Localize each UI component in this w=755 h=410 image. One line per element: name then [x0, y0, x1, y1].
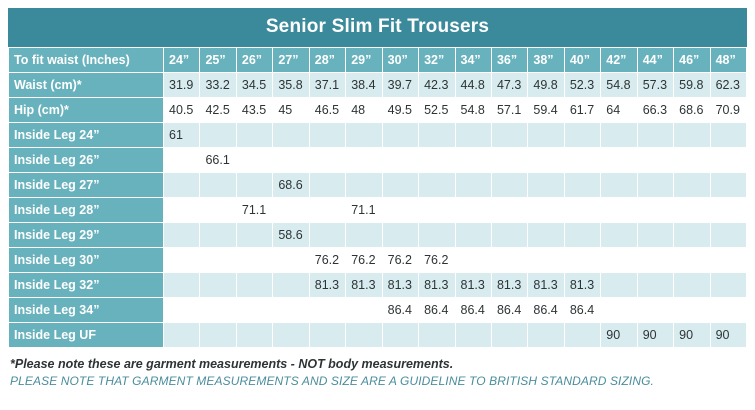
- table-cell: 86.4: [564, 298, 600, 323]
- table-cell: [637, 173, 673, 198]
- column-header-9: 34”: [455, 48, 491, 73]
- table-cell: [564, 148, 600, 173]
- table-cell: [455, 323, 491, 348]
- table-cell: [236, 148, 272, 173]
- table-cell: [382, 173, 418, 198]
- table-cell: [309, 223, 345, 248]
- table-cell: 57.3: [637, 73, 673, 98]
- table-cell: 58.6: [273, 223, 309, 248]
- table-cell: [200, 198, 236, 223]
- table-cell: [200, 273, 236, 298]
- table-cell: [273, 248, 309, 273]
- table-cell: [528, 223, 564, 248]
- corner-header: To fit waist (Inches): [9, 48, 164, 73]
- table-cell: [637, 223, 673, 248]
- table-cell: 42.3: [419, 73, 455, 98]
- table-cell: [528, 148, 564, 173]
- table-cell: 90: [601, 323, 637, 348]
- table-cell: 66.3: [637, 98, 673, 123]
- table-cell: [601, 123, 637, 148]
- table-cell: [382, 323, 418, 348]
- note-secondary: PLEASE NOTE THAT GARMENT MEASUREMENTS AN…: [10, 374, 747, 388]
- table-cell: [200, 298, 236, 323]
- column-header-15: 46”: [674, 48, 710, 73]
- table-cell: 40.5: [164, 98, 200, 123]
- table-cell: [273, 148, 309, 173]
- table-cell: [236, 173, 272, 198]
- table-cell: 71.1: [236, 198, 272, 223]
- table-cell: [164, 323, 200, 348]
- table-cell: 90: [674, 323, 710, 348]
- table-row: Waist (cm)*31.933.234.535.837.138.439.74…: [9, 73, 747, 98]
- column-header-8: 32”: [419, 48, 455, 73]
- table-cell: [309, 298, 345, 323]
- table-cell: 54.8: [455, 98, 491, 123]
- row-header: Inside Leg 26”: [9, 148, 164, 173]
- table-cell: [273, 323, 309, 348]
- table-cell: [528, 323, 564, 348]
- table-cell: [382, 123, 418, 148]
- table-cell: [164, 223, 200, 248]
- table-cell: 34.5: [236, 73, 272, 98]
- table-cell: 81.3: [491, 273, 527, 298]
- column-header-2: 25”: [200, 48, 236, 73]
- table-cell: [491, 198, 527, 223]
- table-cell: [419, 323, 455, 348]
- table-cell: 76.2: [346, 248, 382, 273]
- table-cell: [455, 223, 491, 248]
- table-cell: 70.9: [710, 98, 746, 123]
- table-cell: 86.4: [491, 298, 527, 323]
- table-cell: [164, 173, 200, 198]
- table-cell: 76.2: [309, 248, 345, 273]
- column-header-12: 40”: [564, 48, 600, 73]
- table-cell: [674, 123, 710, 148]
- table-cell: [710, 298, 746, 323]
- table-cell: [236, 298, 272, 323]
- table-cell: [564, 323, 600, 348]
- table-cell: [309, 198, 345, 223]
- table-cell: [236, 248, 272, 273]
- table-cell: [273, 298, 309, 323]
- table-cell: [674, 298, 710, 323]
- row-header: Inside Leg UF: [9, 323, 164, 348]
- table-cell: 68.6: [273, 173, 309, 198]
- table-cell: [164, 273, 200, 298]
- row-header: Inside Leg 32”: [9, 273, 164, 298]
- table-cell: 81.3: [382, 273, 418, 298]
- table-cell: 86.4: [455, 298, 491, 323]
- table-cell: 44.8: [455, 73, 491, 98]
- table-cell: 86.4: [528, 298, 564, 323]
- table-cell: 66.1: [200, 148, 236, 173]
- table-cell: [674, 248, 710, 273]
- table-cell: [419, 198, 455, 223]
- table-cell: [491, 248, 527, 273]
- table-row: Inside Leg 30”76.276.276.276.2: [9, 248, 747, 273]
- table-cell: 47.3: [491, 73, 527, 98]
- table-cell: [710, 223, 746, 248]
- table-cell: 81.3: [455, 273, 491, 298]
- table-cell: [309, 323, 345, 348]
- table-cell: [564, 248, 600, 273]
- table-cell: 68.6: [674, 98, 710, 123]
- table-cell: 45: [273, 98, 309, 123]
- table-cell: [273, 123, 309, 148]
- table-cell: [528, 198, 564, 223]
- table-cell: 48: [346, 98, 382, 123]
- table-cell: [564, 198, 600, 223]
- table-cell: [601, 248, 637, 273]
- table-cell: 37.1: [309, 73, 345, 98]
- table-cell: 90: [637, 323, 673, 348]
- table-cell: [637, 248, 673, 273]
- row-header: Inside Leg 34”: [9, 298, 164, 323]
- page-title: Senior Slim Fit Trousers: [8, 8, 747, 47]
- table-cell: 35.8: [273, 73, 309, 98]
- table-cell: [273, 273, 309, 298]
- column-header-6: 29”: [346, 48, 382, 73]
- table-cell: [200, 123, 236, 148]
- table-cell: 61.7: [564, 98, 600, 123]
- table-row: Inside Leg 32”81.381.381.381.381.381.381…: [9, 273, 747, 298]
- size-chart-table: Senior Slim Fit Trousers To fit waist (I…: [8, 8, 747, 348]
- table-cell: 31.9: [164, 73, 200, 98]
- table-cell: 46.5: [309, 98, 345, 123]
- table-cell: 38.4: [346, 73, 382, 98]
- table-header-row: To fit waist (Inches) 24”25”26”27”28”29”…: [9, 48, 747, 73]
- table-cell: [419, 173, 455, 198]
- table-cell: 71.1: [346, 198, 382, 223]
- table-cell: 57.1: [491, 98, 527, 123]
- column-header-4: 27”: [273, 48, 309, 73]
- table-cell: 64: [601, 98, 637, 123]
- table-cell: [491, 323, 527, 348]
- table-cell: 33.2: [200, 73, 236, 98]
- table-cell: [637, 298, 673, 323]
- table-cell: 62.3: [710, 73, 746, 98]
- table-cell: [637, 273, 673, 298]
- table-cell: [236, 273, 272, 298]
- table-cell: [674, 223, 710, 248]
- column-header-11: 38”: [528, 48, 564, 73]
- row-header: Inside Leg 29”: [9, 223, 164, 248]
- table-cell: 49.8: [528, 73, 564, 98]
- table-row: Inside Leg 26”66.1: [9, 148, 747, 173]
- table-row: Inside Leg 24”61: [9, 123, 747, 148]
- table-cell: 61: [164, 123, 200, 148]
- table-cell: [710, 273, 746, 298]
- table-cell: [200, 223, 236, 248]
- table-cell: [419, 148, 455, 173]
- table-cell: [637, 198, 673, 223]
- table-cell: [236, 123, 272, 148]
- row-header: Inside Leg 24”: [9, 123, 164, 148]
- table-cell: [309, 173, 345, 198]
- table-cell: [164, 148, 200, 173]
- table-cell: [200, 173, 236, 198]
- table-cell: [309, 148, 345, 173]
- table-cell: [382, 148, 418, 173]
- table-cell: [455, 248, 491, 273]
- table-cell: [491, 123, 527, 148]
- table-header: To fit waist (Inches) 24”25”26”27”28”29”…: [9, 48, 747, 73]
- table-cell: [164, 248, 200, 273]
- table-cell: [601, 273, 637, 298]
- table-cell: [164, 198, 200, 223]
- table-cell: 52.3: [564, 73, 600, 98]
- table-cell: [200, 323, 236, 348]
- table-cell: [710, 173, 746, 198]
- table-cell: [674, 173, 710, 198]
- table-cell: 39.7: [382, 73, 418, 98]
- table-cell: [236, 323, 272, 348]
- table-cell: [564, 123, 600, 148]
- table-cell: [236, 223, 272, 248]
- size-chart-container: Senior Slim Fit Trousers To fit waist (I…: [0, 0, 755, 410]
- table-cell: 76.2: [382, 248, 418, 273]
- row-header: Inside Leg 27”: [9, 173, 164, 198]
- table-row: Inside Leg 29”58.6: [9, 223, 747, 248]
- table-cell: [601, 298, 637, 323]
- table-cell: [455, 198, 491, 223]
- table-cell: [273, 198, 309, 223]
- row-header: Inside Leg 28”: [9, 198, 164, 223]
- table-cell: [491, 173, 527, 198]
- table-body: Waist (cm)*31.933.234.535.837.138.439.74…: [9, 73, 747, 348]
- column-header-7: 30”: [382, 48, 418, 73]
- row-header: Waist (cm)*: [9, 73, 164, 98]
- table-cell: [491, 148, 527, 173]
- table-cell: [346, 173, 382, 198]
- column-header-1: 24”: [164, 48, 200, 73]
- table-cell: [637, 123, 673, 148]
- table-cell: [346, 223, 382, 248]
- table-cell: 81.3: [346, 273, 382, 298]
- note-primary: *Please note these are garment measureme…: [10, 357, 747, 371]
- table-cell: [419, 223, 455, 248]
- table-cell: [346, 298, 382, 323]
- table-cell: [710, 123, 746, 148]
- table-cell: [382, 198, 418, 223]
- table-cell: 86.4: [382, 298, 418, 323]
- table-cell: 49.5: [382, 98, 418, 123]
- table-cell: 81.3: [564, 273, 600, 298]
- table-cell: [601, 223, 637, 248]
- table-cell: [601, 148, 637, 173]
- table-cell: [455, 123, 491, 148]
- table-cell: [346, 148, 382, 173]
- table-cell: 90: [710, 323, 746, 348]
- table-cell: [528, 248, 564, 273]
- table-cell: [710, 248, 746, 273]
- table-cell: 43.5: [236, 98, 272, 123]
- table-cell: [455, 173, 491, 198]
- table-cell: 81.3: [419, 273, 455, 298]
- table-cell: [309, 123, 345, 148]
- table-cell: [564, 223, 600, 248]
- table-cell: [674, 148, 710, 173]
- table-row: Inside Leg 34”86.486.486.486.486.486.4: [9, 298, 747, 323]
- table-cell: [455, 148, 491, 173]
- table-cell: 86.4: [419, 298, 455, 323]
- table-cell: [419, 123, 455, 148]
- table-cell: [710, 198, 746, 223]
- table-cell: 42.5: [200, 98, 236, 123]
- table-cell: 76.2: [419, 248, 455, 273]
- table-row: Inside Leg 28”71.171.1: [9, 198, 747, 223]
- table-cell: [346, 123, 382, 148]
- column-header-16: 48”: [710, 48, 746, 73]
- table-row: Inside Leg 27”68.6: [9, 173, 747, 198]
- row-header: Inside Leg 30”: [9, 248, 164, 273]
- table-cell: 59.4: [528, 98, 564, 123]
- table-cell: [528, 123, 564, 148]
- table-row: Hip (cm)*40.542.543.54546.54849.552.554.…: [9, 98, 747, 123]
- table-cell: [382, 223, 418, 248]
- table-cell: 52.5: [419, 98, 455, 123]
- table-cell: [564, 173, 600, 198]
- table-cell: 54.8: [601, 73, 637, 98]
- table-cell: [491, 223, 527, 248]
- table-row: Inside Leg UF90909090: [9, 323, 747, 348]
- table-cell: [346, 323, 382, 348]
- table-cell: [674, 198, 710, 223]
- table-cell: 59.8: [674, 73, 710, 98]
- column-header-3: 26”: [236, 48, 272, 73]
- table-cell: [601, 198, 637, 223]
- table-cell: [637, 148, 673, 173]
- column-header-5: 28”: [309, 48, 345, 73]
- table-cell: [528, 173, 564, 198]
- table-cell: [164, 298, 200, 323]
- column-header-14: 44”: [637, 48, 673, 73]
- table-cell: [601, 173, 637, 198]
- table-cell: [200, 248, 236, 273]
- table-cell: 81.3: [309, 273, 345, 298]
- row-header: Hip (cm)*: [9, 98, 164, 123]
- table-cell: [710, 148, 746, 173]
- column-header-13: 42”: [601, 48, 637, 73]
- table-cell: 81.3: [528, 273, 564, 298]
- column-header-10: 36”: [491, 48, 527, 73]
- table-cell: [674, 273, 710, 298]
